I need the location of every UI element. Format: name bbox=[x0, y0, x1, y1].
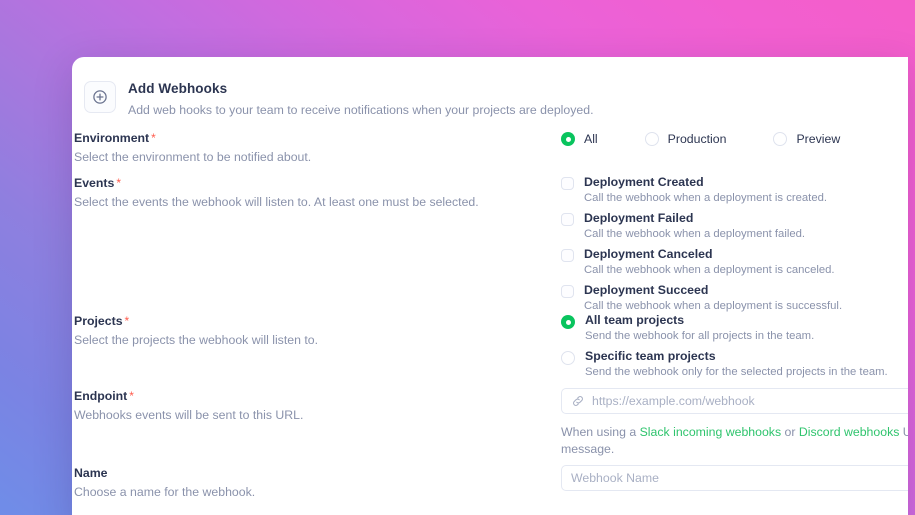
projects-option-all-team-projects[interactable]: All team projects Send the webhook for a… bbox=[561, 313, 908, 344]
name-label: Name bbox=[74, 465, 561, 481]
events-option-texts: Deployment Succeed Call the webhook when… bbox=[584, 283, 842, 314]
projects-field: All team projects Send the webhook for a… bbox=[561, 313, 908, 380]
projects-radio-group: All team projects Send the webhook for a… bbox=[561, 313, 908, 380]
projects-label-block: Projects* Select the projects the webhoo… bbox=[72, 313, 561, 380]
environment-option-production-label: Production bbox=[668, 131, 727, 147]
events-label: Events* bbox=[74, 175, 561, 191]
projects-description: Select the projects the webhook will lis… bbox=[74, 332, 561, 348]
radio-icon-all[interactable] bbox=[561, 132, 575, 146]
radio-icon-production[interactable] bbox=[645, 132, 659, 146]
page-title: Add Webhooks bbox=[128, 80, 594, 98]
section-name: Name Choose a name for the webhook. bbox=[72, 465, 908, 500]
environment-option-all[interactable]: All bbox=[561, 131, 598, 147]
environment-description: Select the environment to be notified ab… bbox=[74, 149, 561, 165]
helper-prefix: When using a bbox=[561, 425, 640, 439]
name-label-text: Name bbox=[74, 466, 108, 480]
projects-option-texts: All team projects Send the webhook for a… bbox=[585, 313, 814, 344]
section-events: Events* Select the events the webhook wi… bbox=[72, 175, 908, 314]
events-option-description: Call the webhook when a deployment is cr… bbox=[584, 191, 827, 206]
environment-radio-group: All Production Preview bbox=[561, 130, 908, 147]
name-field bbox=[561, 465, 908, 500]
name-description: Choose a name for the webhook. bbox=[74, 484, 561, 500]
section-projects: Projects* Select the projects the webhoo… bbox=[72, 313, 908, 380]
events-required-marker: * bbox=[116, 176, 121, 190]
endpoint-label: Endpoint* bbox=[74, 388, 561, 404]
events-option-title: Deployment Created bbox=[584, 175, 827, 190]
events-option-title: Deployment Succeed bbox=[584, 283, 842, 298]
checkbox-icon-deployment-failed[interactable] bbox=[561, 213, 574, 226]
events-option-texts: Deployment Failed Call the webhook when … bbox=[584, 211, 805, 242]
checkbox-icon-deployment-created[interactable] bbox=[561, 177, 574, 190]
environment-option-preview-label: Preview bbox=[796, 131, 840, 147]
radio-icon-all-team-projects[interactable] bbox=[561, 315, 575, 329]
events-option-deployment-canceled[interactable]: Deployment Canceled Call the webhook whe… bbox=[561, 247, 908, 278]
endpoint-input-wrapper[interactable] bbox=[561, 388, 908, 414]
endpoint-required-marker: * bbox=[129, 389, 134, 403]
environment-label-text: Environment bbox=[74, 131, 149, 145]
environment-option-production[interactable]: Production bbox=[645, 131, 727, 147]
header-text: Add Webhooks Add web hooks to your team … bbox=[128, 79, 594, 119]
events-label-block: Events* Select the events the webhook wi… bbox=[72, 175, 561, 314]
events-option-deployment-created[interactable]: Deployment Created Call the webhook when… bbox=[561, 175, 908, 206]
section-environment: Environment* Select the environment to b… bbox=[72, 130, 908, 165]
projects-option-specific-team-projects[interactable]: Specific team projects Send the webhook … bbox=[561, 349, 908, 380]
environment-required-marker: * bbox=[151, 131, 156, 145]
name-input-wrapper[interactable] bbox=[561, 465, 908, 491]
environment-label-block: Environment* Select the environment to b… bbox=[72, 130, 561, 165]
events-option-deployment-succeed[interactable]: Deployment Succeed Call the webhook when… bbox=[561, 283, 908, 314]
projects-option-description: Send the webhook for all projects in the… bbox=[585, 329, 814, 344]
radio-icon-preview[interactable] bbox=[773, 132, 787, 146]
section-endpoint: Endpoint* Webhooks events will be sent t… bbox=[72, 388, 908, 458]
events-option-deployment-failed[interactable]: Deployment Failed Call the webhook when … bbox=[561, 211, 908, 242]
projects-option-texts: Specific team projects Send the webhook … bbox=[585, 349, 888, 380]
events-description: Select the events the webhook will liste… bbox=[74, 194, 561, 210]
endpoint-helper-text: When using a Slack incoming webhooks or … bbox=[561, 424, 908, 458]
environment-option-all-label: All bbox=[584, 131, 598, 147]
endpoint-label-text: Endpoint bbox=[74, 389, 127, 403]
events-option-title: Deployment Failed bbox=[584, 211, 805, 226]
events-option-texts: Deployment Created Call the webhook when… bbox=[584, 175, 827, 206]
environment-field: All Production Preview bbox=[561, 130, 908, 165]
projects-label: Projects* bbox=[74, 313, 561, 329]
helper-middle: or bbox=[781, 425, 799, 439]
name-label-block: Name Choose a name for the webhook. bbox=[72, 465, 561, 500]
slack-incoming-webhooks-link[interactable]: Slack incoming webhooks bbox=[640, 425, 782, 439]
discord-webhooks-link[interactable]: Discord webhooks bbox=[799, 425, 899, 439]
projects-option-title: Specific team projects bbox=[585, 349, 888, 364]
projects-required-marker: * bbox=[125, 314, 130, 328]
card-header: Add Webhooks Add web hooks to your team … bbox=[82, 79, 908, 119]
events-field: Deployment Created Call the webhook when… bbox=[561, 175, 908, 314]
events-checkbox-group: Deployment Created Call the webhook when… bbox=[561, 175, 908, 314]
environment-label: Environment* bbox=[74, 130, 561, 146]
card-content: Add Webhooks Add web hooks to your team … bbox=[72, 57, 908, 119]
page-subtitle: Add web hooks to your team to receive no… bbox=[128, 101, 594, 119]
plus-circle-icon bbox=[84, 81, 116, 113]
endpoint-field: When using a Slack incoming webhooks or … bbox=[561, 388, 908, 458]
endpoint-input[interactable] bbox=[592, 393, 908, 409]
link-icon bbox=[571, 394, 585, 408]
projects-option-description: Send the webhook only for the selected p… bbox=[585, 365, 888, 380]
events-option-description: Call the webhook when a deployment is ca… bbox=[584, 263, 835, 278]
events-label-text: Events bbox=[74, 176, 114, 190]
events-option-description: Call the webhook when a deployment is su… bbox=[584, 299, 842, 314]
checkbox-icon-deployment-canceled[interactable] bbox=[561, 249, 574, 262]
environment-option-preview[interactable]: Preview bbox=[773, 131, 840, 147]
projects-label-text: Projects bbox=[74, 314, 123, 328]
checkbox-icon-deployment-succeed[interactable] bbox=[561, 285, 574, 298]
events-option-title: Deployment Canceled bbox=[584, 247, 835, 262]
webhook-name-input[interactable] bbox=[571, 470, 908, 486]
events-option-texts: Deployment Canceled Call the webhook whe… bbox=[584, 247, 835, 278]
projects-option-title: All team projects bbox=[585, 313, 814, 328]
endpoint-label-block: Endpoint* Webhooks events will be sent t… bbox=[72, 388, 561, 458]
add-webhooks-card: Add Webhooks Add web hooks to your team … bbox=[72, 57, 908, 515]
radio-icon-specific-team-projects[interactable] bbox=[561, 351, 575, 365]
events-option-description: Call the webhook when a deployment faile… bbox=[584, 227, 805, 242]
endpoint-description: Webhooks events will be sent to this URL… bbox=[74, 407, 561, 423]
